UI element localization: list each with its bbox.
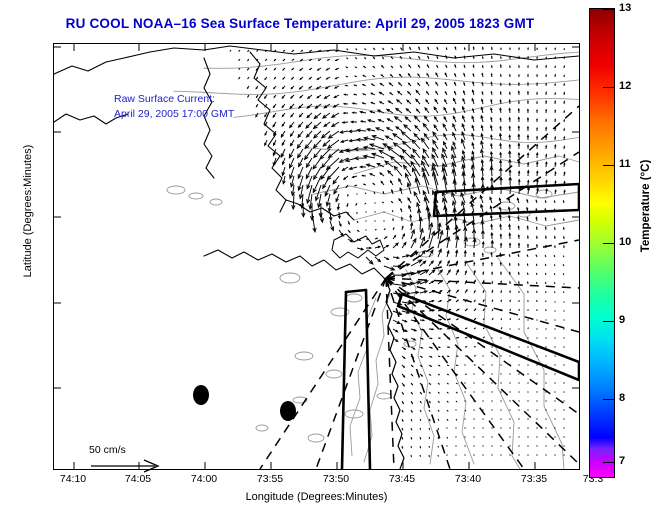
x-tick-3: 73:55	[240, 473, 300, 485]
cb-tick-mark-10	[603, 243, 615, 244]
x-tick-7: 73:35	[504, 473, 564, 485]
cb-tick-mark-13	[603, 9, 615, 10]
cb-tick-0: 13	[619, 2, 631, 14]
surface-current-vectors	[230, 47, 565, 456]
scale-reference: 50 cm/s	[89, 444, 163, 474]
x-tick-0: 74:10	[43, 473, 103, 485]
sst-map-figure: RU COOL NOAA–16 Sea Surface Temperature:…	[0, 0, 651, 515]
sst-contour-lines	[167, 52, 579, 469]
cb-tick-mark-7	[603, 462, 615, 463]
cb-tick-mark-11	[603, 165, 615, 166]
x-tick-1: 74:05	[108, 473, 168, 485]
cb-tick-mark-12	[603, 87, 615, 88]
x-tick-2: 74:00	[174, 473, 234, 485]
map-plot-area[interactable]: Raw Surface Current: April 29, 2005 17:0…	[53, 43, 580, 470]
cb-tick-2: 11	[619, 158, 631, 170]
x-axis-label: Longitude (Degrees:Minutes)	[53, 491, 580, 503]
cb-tick-6: 7	[619, 455, 625, 467]
cb-tick-1: 12	[619, 80, 631, 92]
cb-tick-5: 8	[619, 392, 625, 404]
station-markers	[193, 385, 296, 421]
x-tick-4: 73:50	[306, 473, 366, 485]
scale-reference-label: 50 cm/s	[89, 444, 163, 456]
colorbar-label: Temperature (°C)	[640, 126, 651, 286]
y-axis-label: Latitude (Degrees:Minutes)	[22, 91, 34, 331]
arrow-right-icon	[89, 456, 163, 474]
x-tick-5: 73:45	[372, 473, 432, 485]
cb-tick-3: 10	[619, 236, 631, 248]
cb-tick-4: 9	[619, 314, 625, 326]
cb-tick-mark-8	[603, 399, 615, 400]
page-title: RU COOL NOAA–16 Sea Surface Temperature:…	[0, 16, 600, 31]
x-tick-6: 73:40	[438, 473, 498, 485]
map-canvas	[54, 44, 579, 469]
cb-tick-mark-9	[603, 321, 615, 322]
radar-transect-lines	[260, 106, 579, 469]
